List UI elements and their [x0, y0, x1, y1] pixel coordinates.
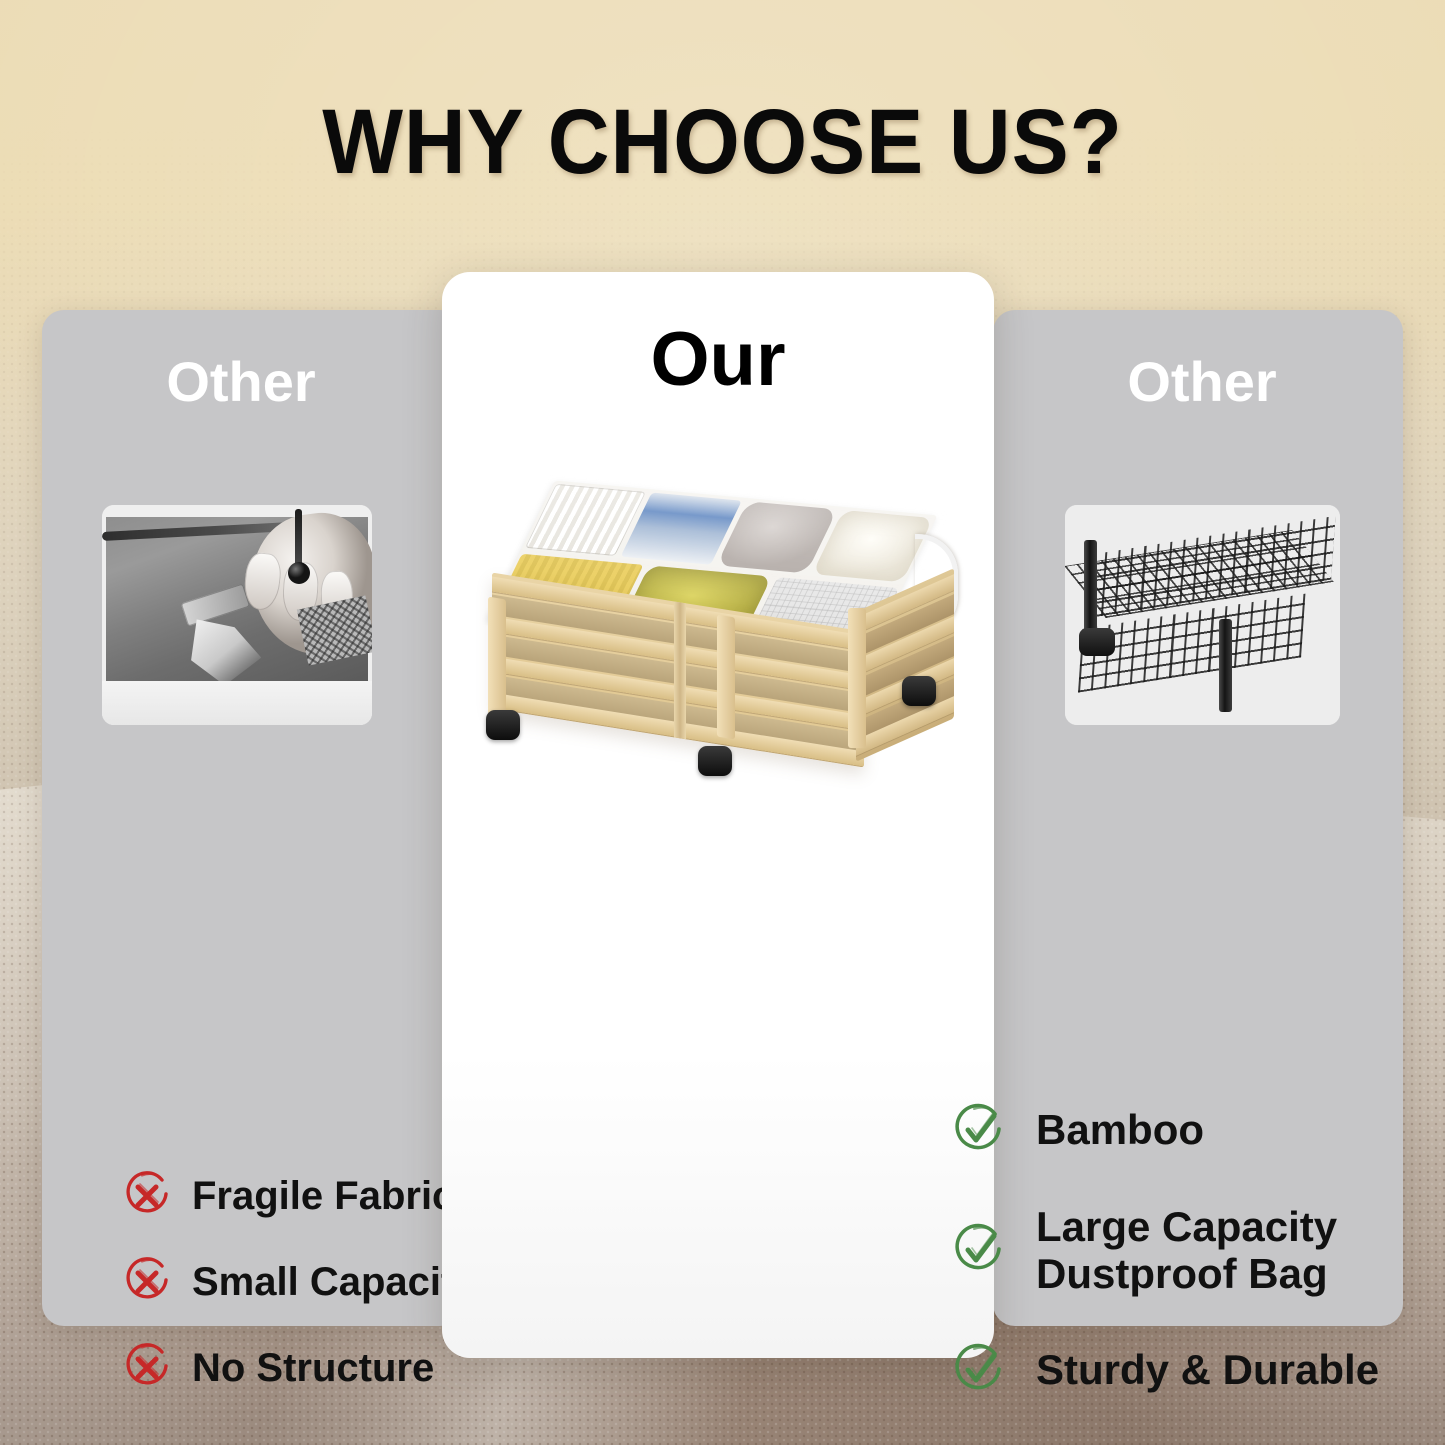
product-image	[460, 452, 976, 782]
wire-foot	[1079, 628, 1115, 656]
list-item-label: Small Capacity	[192, 1260, 477, 1305]
caster-wheel-front	[698, 746, 732, 776]
circled-check-icon	[950, 1101, 1008, 1159]
list-item: No Structure	[120, 1340, 490, 1396]
bamboo-corner-post-left	[488, 597, 506, 720]
panel-heading-right: Other	[1001, 354, 1403, 410]
list-item: Fragile Fabric	[120, 1168, 490, 1224]
circled-check-icon	[950, 1221, 1008, 1279]
zipper-knob	[288, 562, 310, 584]
bamboo-storage-box	[482, 498, 952, 766]
list-item-label: No Structure	[192, 1346, 434, 1391]
panel-heading-left: Other	[20, 354, 462, 410]
list-item: Large Capacity Dustproof Bag	[950, 1194, 1420, 1306]
wire-basket-photo	[1065, 505, 1340, 725]
fragile-fabric-photo	[102, 505, 372, 725]
list-item: Bamboo	[950, 1102, 1420, 1158]
list-item: Small Capacity	[120, 1254, 490, 1310]
wire-basket-body	[1076, 515, 1340, 715]
competitor-image-left	[102, 505, 372, 725]
list-item-label: Bamboo	[1036, 1106, 1204, 1153]
circled-x-icon	[120, 1341, 174, 1395]
competitor-image-right	[1065, 505, 1340, 725]
bamboo-corner-post-right	[848, 608, 866, 748]
wire-post-left	[1084, 540, 1097, 641]
wire-post-center	[1219, 619, 1232, 711]
list-item: Sturdy & Durable	[950, 1342, 1420, 1398]
our-product-card: Our	[442, 272, 994, 1358]
circled-x-icon	[120, 1255, 174, 1309]
competitor-panel-left: Other	[42, 310, 462, 1326]
caster-wheel-left	[486, 710, 520, 740]
caster-wheel-right	[902, 676, 936, 706]
photo-floor	[102, 681, 372, 725]
list-item-label: Sturdy & Durable	[1036, 1346, 1379, 1393]
bamboo-center-divider	[674, 601, 686, 739]
circled-x-icon	[120, 1169, 174, 1223]
list-item-label: Large Capacity Dustproof Bag	[1036, 1203, 1337, 1297]
bamboo-corner-post-center	[717, 615, 735, 740]
competitor-feature-list-left: Fragile Fabric Small Capacity	[120, 1168, 490, 1426]
page-title: WHY CHOOSE US?	[51, 96, 1395, 188]
circled-check-icon	[950, 1341, 1008, 1399]
product-scene	[460, 452, 976, 782]
card-heading: Our	[442, 322, 994, 398]
our-feature-list: Bamboo Large Capacity Dustproof Bag	[950, 1102, 1420, 1434]
list-item-label: Fragile Fabric	[192, 1174, 454, 1219]
